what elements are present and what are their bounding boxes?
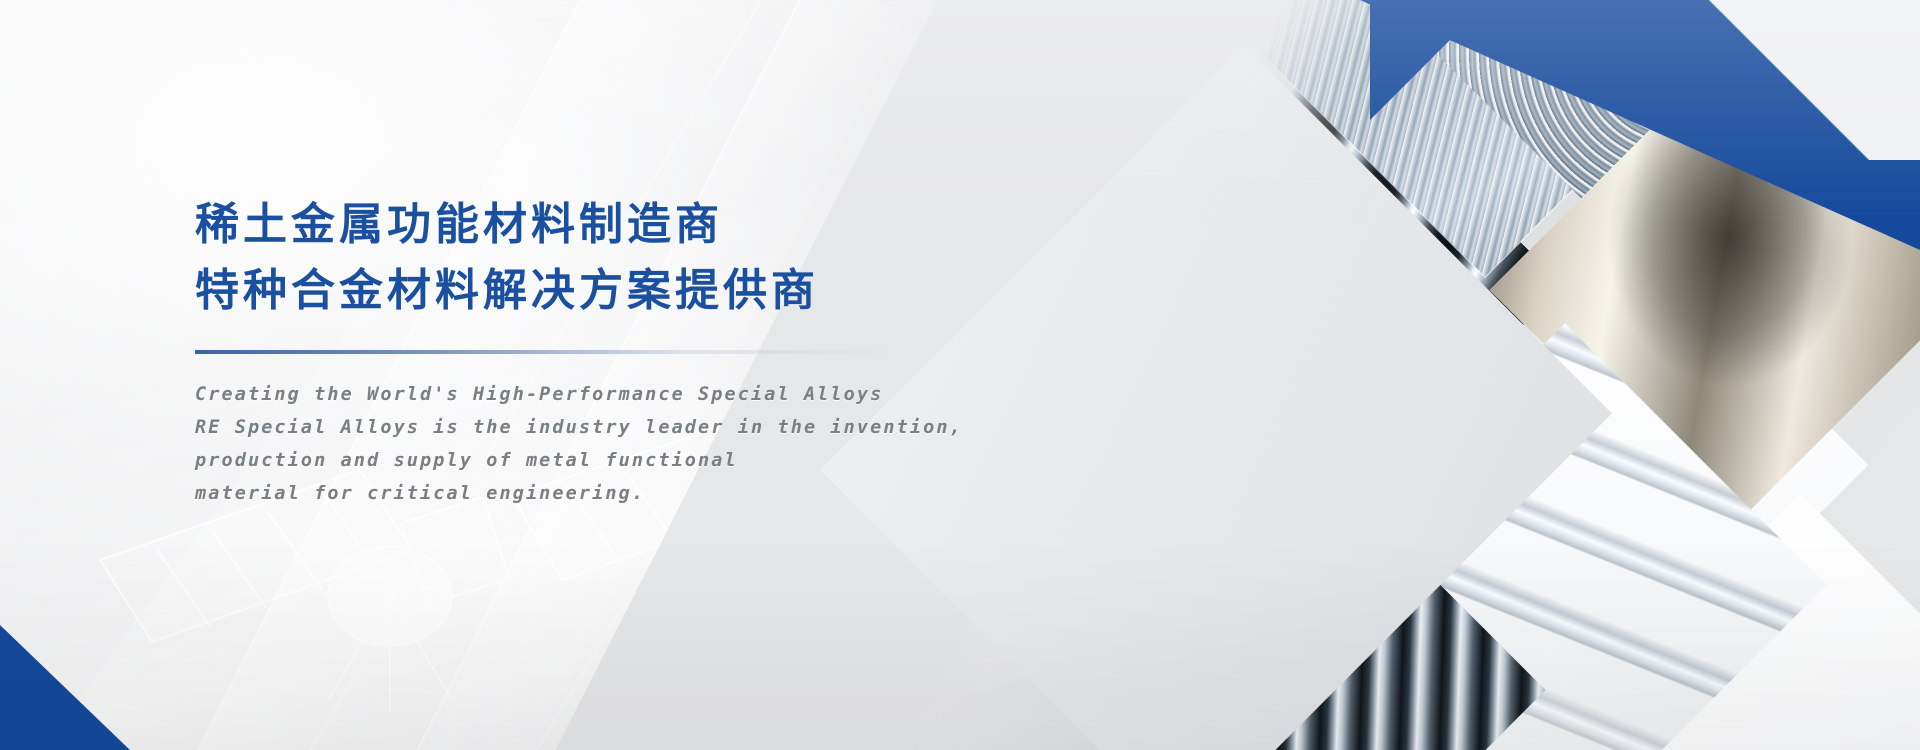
tagline-line-1: Creating the World's High-Performance Sp… [195, 378, 1015, 411]
sparkle-1 [118, 18, 121, 21]
blue-corner-top-right-notch [1660, 0, 1920, 160]
hero-copy: 稀土金属功能材料制造商 特种合金材料解决方案提供商 Creating the W… [195, 192, 1015, 510]
tagline-line-4: material for critical engineering. [195, 477, 1015, 510]
tagline-line-3: production and supply of metal functiona… [195, 444, 1015, 477]
hero-banner: 稀土金属功能材料制造商 特种合金材料解决方案提供商 Creating the W… [0, 0, 1920, 750]
blue-corner-bottom-left [0, 625, 130, 750]
headline-line-1: 稀土金属功能材料制造商 [195, 192, 1015, 258]
sparkle-2 [156, 46, 158, 48]
blue-corner-top-left-sliver [1370, 0, 1490, 120]
headline-line-2: 特种合金材料解决方案提供商 [195, 258, 1015, 324]
tagline-block: Creating the World's High-Performance Sp… [195, 378, 1015, 510]
headline-divider [195, 350, 895, 354]
sparkle-3 [92, 232, 94, 234]
tagline-line-2: RE Special Alloys is the industry leader… [195, 411, 1015, 444]
